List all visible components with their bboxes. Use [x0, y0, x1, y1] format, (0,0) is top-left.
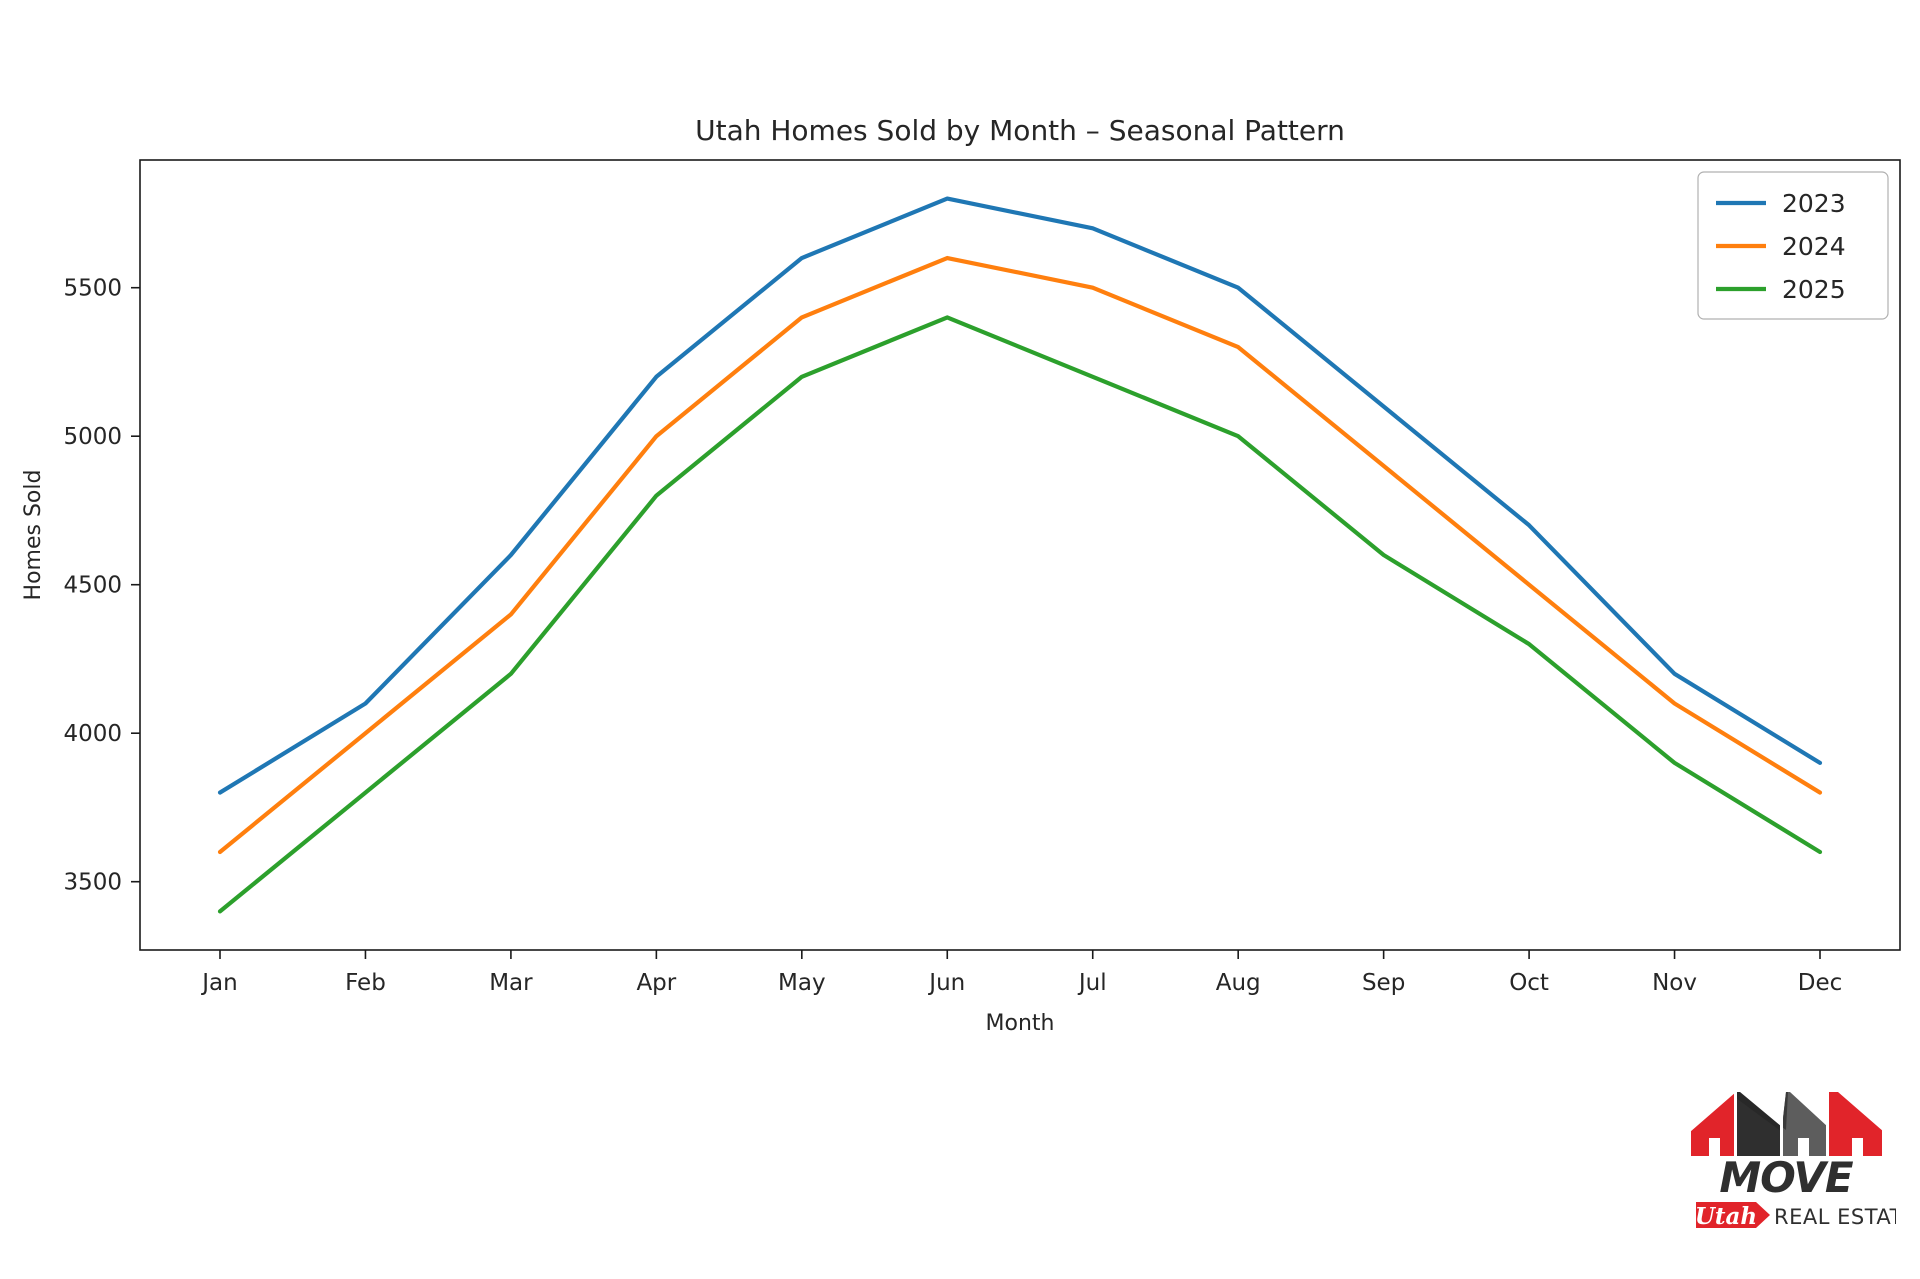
roof-mid-right-icon [1828, 1092, 1838, 1156]
x-tick-label: Apr [636, 970, 676, 996]
legend-label-2023[interactable]: 2023 [1782, 189, 1846, 218]
legend-label-2024[interactable]: 2024 [1782, 232, 1846, 261]
y-tick-label: 3500 [63, 870, 122, 896]
roof-center-icon [1782, 1092, 1828, 1156]
x-tick-label: Nov [1652, 970, 1697, 996]
x-tick-label: Sep [1362, 970, 1405, 996]
logo-script-text: Utah [1695, 1203, 1757, 1230]
y-tick-label: 5000 [63, 424, 122, 450]
roof-right-icon [1838, 1092, 1884, 1156]
roof-mid-left-icon [1736, 1092, 1782, 1156]
x-tick-label: Dec [1798, 970, 1843, 996]
chart-figure: Utah Homes Sold by Month – Seasonal Patt… [0, 0, 1920, 1279]
logo-artwork: MOVE Utah REAL ESTATE [1678, 1072, 1896, 1232]
legend-label-2025[interactable]: 2025 [1782, 275, 1846, 304]
x-tick-label: Aug [1216, 970, 1261, 996]
x-tick-label: Jan [200, 970, 237, 996]
y-axis-label: Homes Sold [21, 470, 46, 601]
x-axis-ticks: JanFebMarAprMayJunJulAugSepOctNovDec [200, 950, 1842, 996]
y-tick-label: 4500 [63, 573, 122, 599]
chart-title: Utah Homes Sold by Month – Seasonal Patt… [695, 114, 1345, 147]
x-tick-label: May [778, 970, 826, 996]
x-tick-label: Jun [927, 970, 965, 996]
y-tick-label: 4000 [63, 721, 122, 747]
x-tick-label: Mar [489, 970, 533, 996]
chart-legend[interactable]: 202320242025 [1698, 172, 1888, 319]
line-chart: Utah Homes Sold by Month – Seasonal Patt… [0, 0, 1920, 1279]
x-tick-label: Oct [1509, 970, 1549, 996]
x-tick-label: Jul [1077, 970, 1107, 996]
roof-left-icon [1690, 1092, 1736, 1156]
logo-tagline-text: REAL ESTATE [1774, 1205, 1896, 1229]
logo-brand-text: MOVE [1719, 1153, 1854, 1202]
x-axis-label: Month [986, 1011, 1055, 1036]
y-axis-ticks: 35004000450050005500 [63, 276, 140, 896]
plot-area-background [140, 160, 1900, 950]
move-utah-real-estate-logo: MOVE Utah REAL ESTATE [1678, 1072, 1896, 1232]
y-tick-label: 5500 [63, 276, 122, 302]
x-tick-label: Feb [345, 970, 386, 996]
